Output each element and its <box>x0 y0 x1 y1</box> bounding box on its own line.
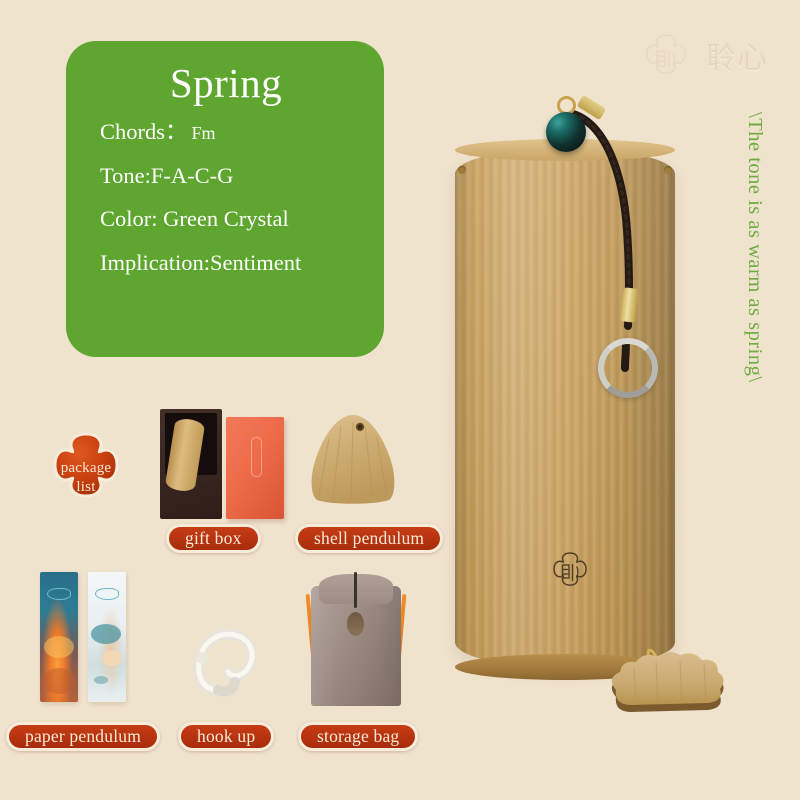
bamboo-chime-product <box>455 148 675 676</box>
paper-pendulum-icon <box>40 572 132 702</box>
package-list-line1: package <box>61 459 112 478</box>
cord-ferrule-top <box>577 95 607 120</box>
chords-value: Fm <box>188 123 216 143</box>
chime-body <box>455 148 675 668</box>
hook-up-icon <box>188 612 266 708</box>
product-infographic: 聆心 Spring Chords：Fm Tone:F-A-C-G Color: … <box>0 0 800 800</box>
package-list-line2: list <box>76 478 95 497</box>
pill-storage-bag[interactable]: storage bag <box>298 722 418 751</box>
paper-pendulum-b <box>88 572 126 702</box>
chords-row: Chords：Fm <box>100 121 362 144</box>
pill-gift-box[interactable]: gift box <box>166 524 261 553</box>
paper-blob-a1 <box>44 636 74 658</box>
paper-blob-b1 <box>91 624 121 644</box>
paper-blob-b3 <box>94 676 108 684</box>
shell-pendulum-icon <box>305 410 401 508</box>
chords-label: Chords： <box>100 119 188 144</box>
storage-bag-icon <box>307 568 405 708</box>
striker-ring <box>598 338 658 398</box>
gift-box-open <box>160 409 222 519</box>
package-list-badge-label: package list <box>38 430 134 526</box>
burned-brand-logo-icon <box>547 550 593 596</box>
brand-wordmark: 聆心 <box>706 31 768 87</box>
info-card: Spring Chords：Fm Tone:F-A-C-G Color: Gre… <box>66 41 384 357</box>
paper-blob-a2 <box>42 668 76 694</box>
brand-watermark: 聆心 <box>638 28 778 90</box>
gift-box-sleeve <box>226 417 284 519</box>
chime-peg-left <box>458 166 466 174</box>
season-title: Spring <box>90 59 362 107</box>
gift-box-icon <box>160 403 290 521</box>
pill-hook-up[interactable]: hook up <box>178 722 274 751</box>
green-crystal-bead <box>546 112 586 152</box>
pill-shell-pendulum[interactable]: shell pendulum <box>295 524 443 553</box>
paper-pendulum-a <box>40 572 78 702</box>
paper-fish-motif-b <box>95 588 119 600</box>
paper-fish-motif-a <box>47 588 71 600</box>
color-row: Color: Green Crystal <box>100 208 362 231</box>
brand-emblem-icon <box>638 31 694 87</box>
chime-peg-right <box>664 166 672 174</box>
pill-paper-pendulum[interactable]: paper pendulum <box>6 722 160 751</box>
cloud-wooden-tag-icon <box>600 648 750 720</box>
tone-row: Tone:F-A-C-G <box>100 165 362 188</box>
implication-row: Implication:Sentiment <box>100 252 362 275</box>
bag-opening <box>354 572 357 608</box>
package-list-badge: package list <box>38 430 134 526</box>
bag-wooden-tag <box>347 612 364 636</box>
tagline-vertical: \The tone is as warm as spring\ <box>743 112 766 462</box>
paper-blob-b2 <box>102 650 122 666</box>
